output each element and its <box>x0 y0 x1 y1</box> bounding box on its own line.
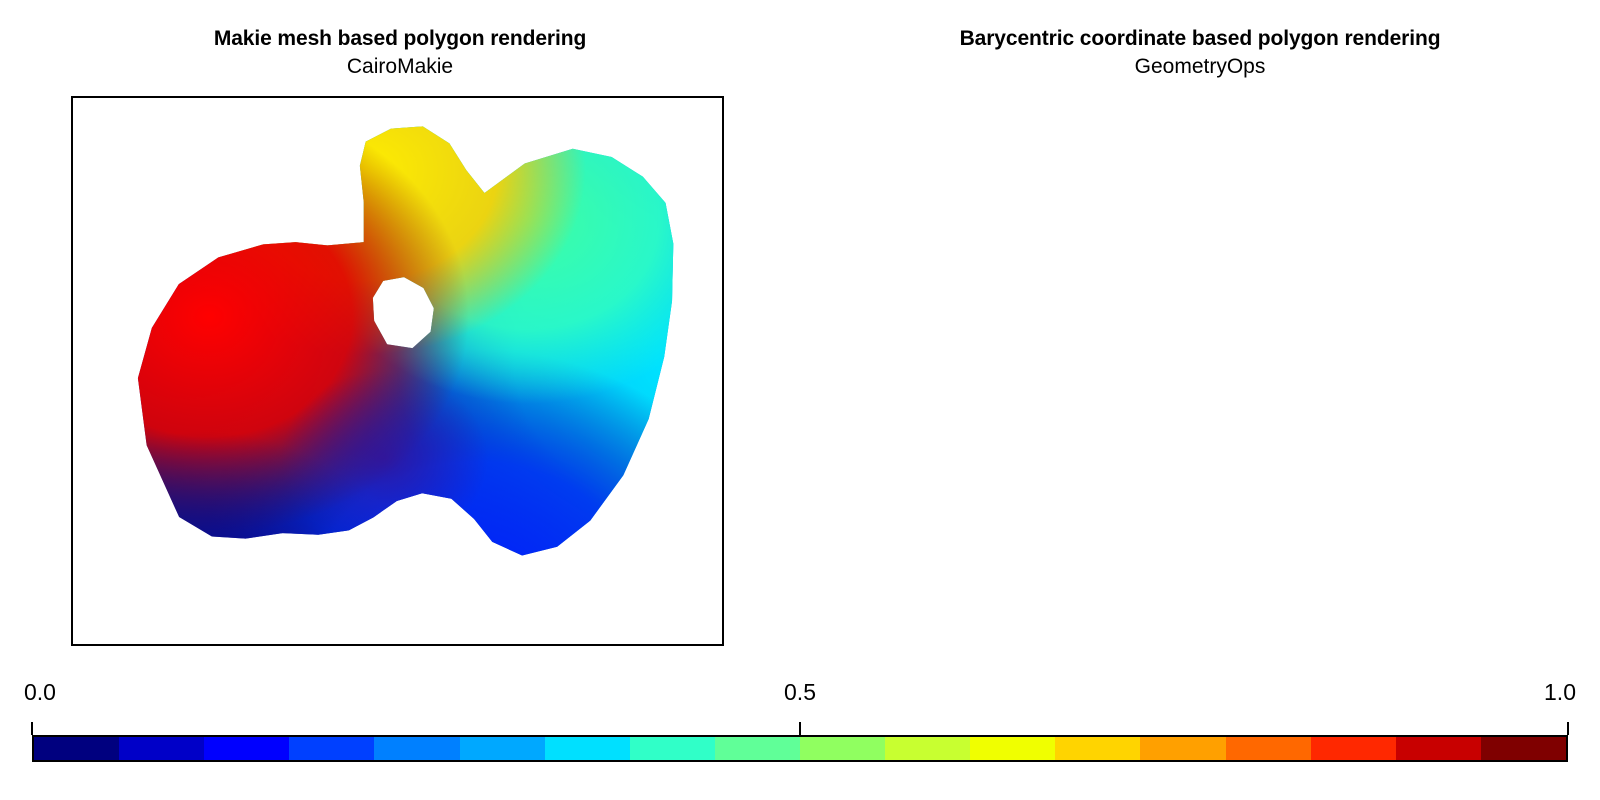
colorbar-band <box>630 737 715 760</box>
polygon-plot-mesh <box>73 98 722 644</box>
colorbar-tick-label: 0.5 <box>784 680 816 704</box>
colorbar-band <box>119 737 204 760</box>
colorbar-band <box>715 737 800 760</box>
colorbar-band <box>885 737 970 760</box>
colorbar-band <box>460 737 545 760</box>
axis-left <box>71 96 724 646</box>
colorbar-tick <box>31 722 33 735</box>
colorbar-band <box>204 737 289 760</box>
mesh-gradient-layers <box>73 98 722 644</box>
colorbar-band <box>1396 737 1481 760</box>
colorbar-band <box>1481 737 1566 760</box>
colorbar-gradient-bar[interactable] <box>32 735 1568 762</box>
panel-right-title: Barycentric coordinate based polygon ren… <box>800 28 1600 49</box>
colorbar-band <box>1055 737 1140 760</box>
colorbar-band <box>1226 737 1311 760</box>
colorbar-band <box>289 737 374 760</box>
colorbar-band <box>1140 737 1225 760</box>
colorbar-tick-marks <box>32 722 1568 735</box>
colorbar: 0.00.51.0 <box>0 660 1600 800</box>
colorbar-band <box>374 737 459 760</box>
colorbar-tick-label: 1.0 <box>1544 680 1576 704</box>
colorbar-tick <box>1567 722 1569 735</box>
panel-left-title: Makie mesh based polygon rendering <box>0 28 800 49</box>
colorbar-band <box>970 737 1055 760</box>
colorbar-band <box>1311 737 1396 760</box>
panel-left-subtitle: CairoMakie <box>0 56 800 77</box>
colorbar-tick-labels: 0.00.51.0 <box>32 680 1568 710</box>
colorbar-tick <box>799 722 801 735</box>
panel-makie-mesh: Makie mesh based polygon rendering Cairo… <box>0 0 800 660</box>
figure-root: Makie mesh based polygon rendering Cairo… <box>0 0 1600 800</box>
colorbar-band <box>800 737 885 760</box>
colorbar-band <box>34 737 119 760</box>
panel-right-subtitle: GeometryOps <box>800 56 1600 77</box>
panel-barycentric: Barycentric coordinate based polygon ren… <box>800 0 1600 660</box>
colorbar-tick-label: 0.0 <box>24 680 56 704</box>
colorbar-band <box>545 737 630 760</box>
panel-right-titles: Barycentric coordinate based polygon ren… <box>800 28 1600 77</box>
panel-left-titles: Makie mesh based polygon rendering Cairo… <box>0 28 800 77</box>
